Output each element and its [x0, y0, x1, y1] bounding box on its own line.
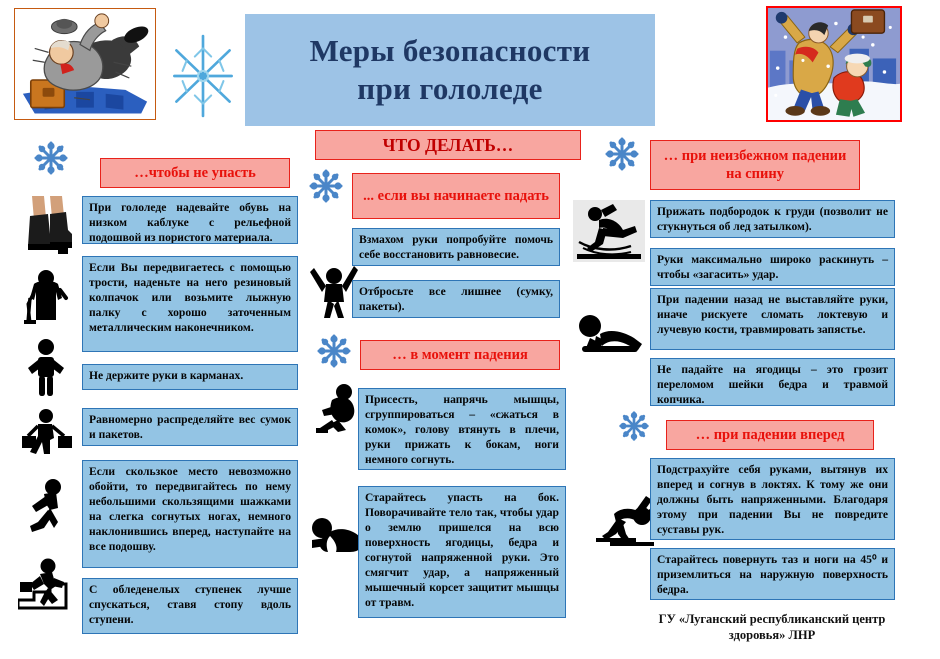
tip-text: Присесть, напрячь мышцы, сгруппироваться… — [365, 393, 559, 466]
lying-on-back-icon — [576, 312, 646, 354]
section-heading-forward-fall-label: … при падении вперед — [696, 426, 845, 444]
snowflake-icon — [618, 410, 650, 442]
page-title: Меры безопасности при гололеде — [245, 14, 655, 126]
crouching-tuck-icon — [312, 382, 364, 434]
snowflake-icon — [33, 140, 69, 176]
section-heading-how-not-to-fall: …чтобы не упасть — [100, 158, 290, 188]
organization-footer-line2: здоровья» ЛНР — [612, 628, 932, 644]
tip-box: Равномерно распределяйте вес сумок и пак… — [82, 408, 298, 446]
tip-text: Подстрахуйте себя руками, вытянув их впе… — [657, 463, 888, 536]
section-heading-at-moment-of-fall-label: … в момент падения — [392, 346, 528, 364]
tip-box: При падении назад не выставляйте руки, и… — [650, 288, 895, 350]
snowflake-icon — [33, 140, 69, 176]
poster-canvas: Меры безопасности при гололеде ЧТО ДЕЛАТ… — [0, 0, 940, 659]
tip-box: Старайтесь повернуть таз и ноги на 45⁰ и… — [650, 548, 895, 600]
elderly-with-cane-icon — [20, 268, 72, 326]
tip-box: Присесть, напрячь мышцы, сгруппироваться… — [358, 388, 566, 470]
tip-box: При гололеде надевайте обувь на низком к… — [82, 196, 298, 244]
organization-footer: ГУ «Луганский республиканский центр здор… — [612, 612, 932, 648]
tip-text: Если скользкое место невозможно обойти, … — [89, 465, 291, 553]
man-slipping-on-ice-illustration — [15, 9, 155, 119]
tip-text: С обледенелых ступенек лучше спускаться,… — [89, 583, 291, 626]
snowflake-icon — [172, 30, 234, 122]
tip-box: Руки максимально широко раскинуть – чтоб… — [650, 248, 895, 286]
page-title-line1: Меры безопасности — [310, 32, 591, 70]
elderly-with-cane-icon — [20, 268, 72, 326]
tip-box: Если скользкое место невозможно обойти, … — [82, 460, 298, 568]
top-left-illustration — [14, 8, 156, 120]
descending-stairs-icon — [18, 556, 74, 614]
snowflake-icon — [316, 333, 352, 369]
carrying-bags-icon — [20, 408, 72, 458]
snowflake-icon — [172, 30, 234, 122]
tip-text: Старайтесь повернуть таз и ноги на 45⁰ и… — [657, 553, 888, 596]
hands-in-pockets-icon — [24, 338, 68, 398]
organization-footer-line1: ГУ «Луганский республиканский центр — [612, 612, 932, 628]
winter-boots-icon — [14, 196, 76, 254]
section-heading-at-moment-of-fall: … в момент падения — [360, 340, 560, 370]
section-heading-forward-fall: … при падении вперед — [666, 420, 874, 450]
tip-text: Отбросьте все лишнее (сумку, пакеты). — [359, 285, 553, 313]
tip-box: Не держите руки в карманах. — [82, 364, 298, 390]
tip-text: При гололеде надевайте обувь на низком к… — [89, 201, 291, 244]
tip-box: Если Вы передвигаетесь с помощью трости,… — [82, 256, 298, 352]
arms-up-balance-icon — [310, 256, 358, 320]
section-heading-inevitable-backward-fall-label: … при неизбежном падении на спину — [655, 147, 855, 184]
section-heading-if-you-start-falling-label: ... если вы начинаете падать — [363, 187, 549, 205]
tip-box: С обледенелых ступенек лучше спускаться,… — [82, 578, 298, 634]
tip-box: Подстрахуйте себя руками, вытянув их впе… — [650, 458, 895, 540]
snowflake-icon — [308, 168, 344, 204]
tip-box: Старайтесь упасть на бок. Поворачивайте … — [358, 486, 566, 618]
tip-text: Равномерно распределяйте вес сумок и пак… — [89, 413, 291, 441]
arms-up-balance-icon — [310, 256, 358, 320]
section-heading-how-not-to-fall-label: …чтобы не упасть — [134, 164, 256, 182]
tip-text: Прижать подбородок к груди (позволит не … — [657, 205, 888, 233]
descending-stairs-icon — [18, 556, 74, 614]
tip-text: Руки максимально широко раскинуть – чтоб… — [657, 253, 888, 281]
section-heading-inevitable-backward-fall: … при неизбежном падении на спину — [650, 140, 860, 190]
carrying-bags-icon — [20, 408, 72, 458]
tip-text: Не держите руки в карманах. — [89, 369, 243, 382]
top-right-illustration — [766, 6, 902, 122]
tip-text: Взмахом руки попробуйте помочь себе восс… — [359, 233, 553, 261]
section-heading-what-to-do-label: ЧТО ДЕЛАТЬ… — [383, 134, 514, 156]
section-heading-if-you-start-falling: ... если вы начинаете падать — [352, 173, 560, 219]
snowflake-icon — [604, 136, 640, 172]
leaning-walk-icon — [22, 478, 72, 534]
page-title-line2: при гололеде — [310, 70, 591, 108]
tip-box: Не падайте на ягодицы – это грозит перел… — [650, 358, 895, 406]
tip-text: Если Вы передвигаетесь с помощью трости,… — [89, 261, 291, 334]
slip-warning-icon — [573, 200, 645, 262]
hands-in-pockets-icon — [24, 338, 68, 398]
tip-text: Старайтесь упасть на бок. Поворачивайте … — [365, 491, 559, 609]
snowflake-icon — [618, 410, 650, 442]
winter-boots-icon — [14, 196, 76, 254]
snowflake-icon — [604, 136, 640, 172]
side-fall-icon — [306, 512, 366, 556]
snowflake-icon — [308, 168, 344, 204]
section-heading-what-to-do: ЧТО ДЕЛАТЬ… — [315, 130, 581, 160]
side-fall-icon — [306, 512, 366, 556]
tip-box: Отбросьте все лишнее (сумку, пакеты). — [352, 280, 560, 318]
woman-and-child-slipping-illustration — [768, 8, 900, 121]
tip-box: Взмахом руки попробуйте помочь себе восс… — [352, 228, 560, 266]
tip-text: Не падайте на ягодицы – это грозит перел… — [657, 363, 888, 406]
crouching-tuck-icon — [312, 382, 364, 434]
tip-box: Прижать подбородок к груди (позволит не … — [650, 200, 895, 238]
tip-text: При падении назад не выставляйте руки, и… — [657, 293, 888, 336]
snowflake-icon — [316, 333, 352, 369]
leaning-walk-icon — [22, 478, 72, 534]
slip-warning-icon — [573, 200, 645, 262]
lying-on-back-icon — [576, 312, 646, 354]
